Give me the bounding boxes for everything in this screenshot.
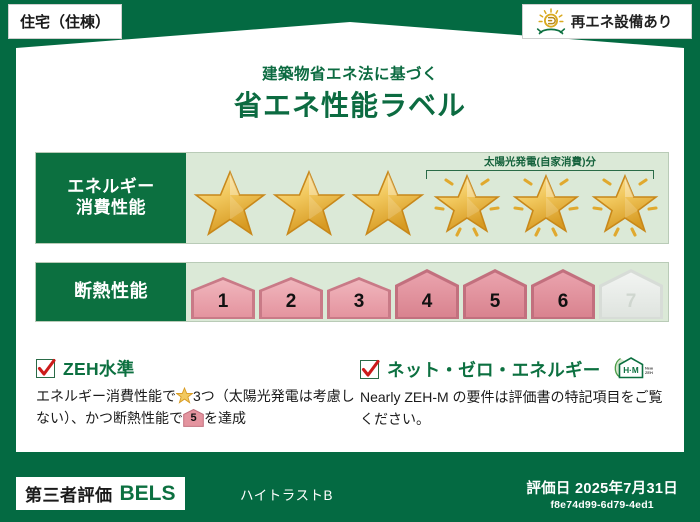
insulation-label-text: 断熱性能 (74, 281, 148, 303)
badge-renewable-equipment: 再エネ設備あり (522, 4, 692, 39)
badge-renewable-label: 再エネ設備あり (571, 11, 673, 32)
energy-rating-area: 太陽光発電(自家消費)分 (186, 153, 668, 243)
insulation-grade-6: 6 (530, 268, 596, 320)
insulation-grade-2-number: 2 (258, 291, 324, 313)
evaluation-info: 評価日 2025年7月31日 f8e74d99-6d79-4ed1 (526, 477, 678, 511)
checkbox-checked-icon (360, 360, 379, 379)
energy-label-line1: エネルギー (67, 177, 155, 198)
energy-performance-label: エネルギー 消費性能 (36, 153, 186, 243)
insulation-grade-4: 4 (394, 268, 460, 320)
note-net-zero-energy: ネット・ゼロ・エネルギー H·M Nearly ZEH-M Nearly ZEH… (360, 356, 676, 431)
note-zeh-text-3: を達成 (204, 410, 246, 426)
star-rating (190, 165, 664, 241)
insulation-grade-5-number: 5 (462, 291, 528, 313)
evaluation-date: 評価日 2025年7月31日 (526, 477, 678, 498)
bels-third-party-badge: 第三者評価 BELS (16, 477, 185, 510)
insulation-performance-label: 断熱性能 (36, 263, 186, 321)
star-icon (176, 387, 193, 404)
star-3 (348, 165, 427, 241)
badge-dwelling-type: 住宅（住棟） (8, 4, 122, 39)
star-6-solar (585, 165, 664, 241)
note-zeh-text-1: エネルギー消費性能で (36, 388, 176, 404)
insulation-grade-scale: 1 2 3 (190, 268, 664, 320)
property-name: ハイトラストB (240, 484, 333, 504)
star-4-solar (427, 165, 506, 241)
energy-label-card: 住宅（住棟） 再エネ設備あり (0, 0, 700, 522)
insulation-grade-6-number: 6 (530, 291, 596, 313)
label-subtitle: 建築物省エネ法に基づく (0, 62, 700, 84)
insulation-grade-3-number: 3 (326, 291, 392, 313)
note-zeh-title: ZEH水準 (63, 356, 135, 381)
insulation-grade-3: 3 (326, 276, 392, 320)
note-nze-header: ネット・ゼロ・エネルギー H·M Nearly ZEH-M (360, 356, 676, 382)
insulation-grade-7: 7 (598, 268, 664, 320)
insulation-grade-1-number: 1 (190, 291, 256, 313)
nearly-zeh-m-logo-text: H·M (623, 366, 639, 375)
insulation-grade-4-number: 4 (394, 291, 460, 313)
solar-sun-icon (536, 8, 566, 36)
note-zeh-body: エネルギー消費性能で3つ（太陽光発電は考慮しない）、かつ断熱性能で5を達成 (36, 386, 356, 430)
energy-label-line2: 消費性能 (76, 198, 146, 219)
insulation-grade-1: 1 (190, 276, 256, 320)
insulation-grade-area: 1 2 3 (186, 263, 668, 321)
note-nze-body: Nearly ZEH-M の要件は評価書の特記項目をご覧ください。 (360, 387, 676, 431)
nearly-zeh-m-caption-2: ZEH-M (645, 370, 653, 375)
insulation-performance-row: 断熱性能 (35, 262, 669, 322)
star-5-solar (506, 165, 585, 241)
bels-badge-en-label: BELS (120, 482, 176, 506)
page-title: 省エネ性能ラベル (0, 84, 700, 124)
insulation-grade-7-number: 7 (598, 291, 664, 313)
star-2 (269, 165, 348, 241)
star-1 (190, 165, 269, 241)
insulation-grade-badge-icon: 5 (183, 409, 204, 427)
nearly-zeh-m-logo-icon: H·M Nearly ZEH-M (611, 356, 653, 382)
energy-performance-row: エネルギー 消費性能 太陽光発電(自家消費)分 (35, 152, 669, 244)
note-zeh-standard: ZEH水準 エネルギー消費性能で3つ（太陽光発電は考慮しない）、かつ断熱性能で5… (36, 356, 356, 430)
insulation-grade-2: 2 (258, 276, 324, 320)
insulation-grade-5: 5 (462, 268, 528, 320)
note-zeh-header: ZEH水準 (36, 356, 356, 381)
evaluation-id: f8e74d99-6d79-4ed1 (526, 499, 678, 511)
checkbox-checked-icon (36, 359, 55, 378)
bels-badge-jp-label: 第三者評価 (25, 481, 113, 506)
badge-dwelling-label: 住宅（住棟） (20, 11, 110, 32)
insulation-grade-badge-number: 5 (183, 410, 204, 427)
note-nze-title: ネット・ゼロ・エネルギー (387, 357, 601, 382)
